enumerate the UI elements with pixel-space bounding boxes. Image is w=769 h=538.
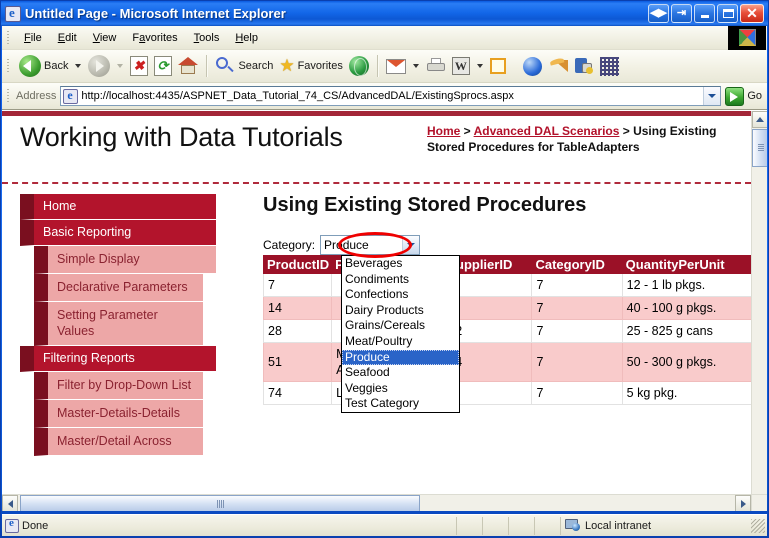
sidebar-item-master-details-details[interactable]: Master-Details-Details bbox=[34, 400, 203, 428]
status-pane-2 bbox=[483, 517, 509, 535]
sidebar-item-label: Simple Display bbox=[57, 252, 140, 266]
sidebar-item-home[interactable]: Home bbox=[20, 194, 216, 220]
research-button[interactable] bbox=[571, 53, 597, 79]
main-content: Using Existing Stored Procedures Categor… bbox=[245, 194, 751, 405]
discuss-button[interactable] bbox=[520, 53, 545, 79]
page-title: Using Existing Stored Procedures bbox=[263, 194, 751, 217]
address-gripper[interactable] bbox=[5, 88, 12, 104]
status-bar: Done Local intranet bbox=[2, 514, 767, 536]
stop-icon: ✖ bbox=[130, 56, 148, 76]
cell-categoryid: 7 bbox=[532, 297, 622, 320]
dropdown-option-confections[interactable]: Confections bbox=[342, 287, 459, 303]
title-bar: Untitled Page - Microsoft Internet Explo… bbox=[1, 1, 768, 26]
cell-quantityperunit: 5 kg pkg. bbox=[622, 382, 751, 405]
security-zone-pane[interactable]: Local intranet bbox=[561, 517, 751, 535]
sidebar-item-filtering-reports[interactable]: Filtering Reports bbox=[20, 346, 216, 372]
scrollbar-corner bbox=[751, 494, 767, 511]
edit-dropdown-icon[interactable] bbox=[477, 64, 483, 68]
address-dropdown-button[interactable] bbox=[703, 87, 720, 105]
refresh-icon: ⟳ bbox=[154, 56, 172, 76]
status-pane-1 bbox=[457, 517, 483, 535]
minimize-button[interactable] bbox=[694, 4, 715, 23]
sidebar-item-declarative-parameters[interactable]: Declarative Parameters bbox=[34, 274, 203, 302]
navigation-toolbar: Back ✖ ⟳ Search ★ Favorites bbox=[2, 50, 767, 83]
toolbar-gripper[interactable] bbox=[5, 58, 12, 74]
local-intranet-icon bbox=[565, 519, 581, 533]
cell-categoryid: 7 bbox=[532, 274, 622, 297]
research-icon bbox=[574, 57, 594, 75]
edit-word-icon: W bbox=[452, 57, 470, 75]
menu-favorites[interactable]: Favorites bbox=[124, 30, 185, 46]
restore-group-button[interactable]: ◀▶ bbox=[648, 4, 669, 23]
sidebar-item-label: Filter by Drop-Down List bbox=[57, 378, 191, 392]
dropdown-option-meat-poultry[interactable]: Meat/Poultry bbox=[342, 334, 459, 350]
dropdown-option-grains-cereals[interactable]: Grains/Cereals bbox=[342, 318, 459, 334]
print-icon bbox=[426, 58, 446, 74]
scroll-up-button[interactable] bbox=[752, 111, 767, 128]
encoding-button[interactable] bbox=[597, 53, 622, 79]
ie-page-icon bbox=[5, 6, 21, 22]
menu-file-label: ile bbox=[31, 32, 42, 44]
dropdown-option-test-category[interactable]: Test Category bbox=[342, 396, 459, 412]
status-pane-4 bbox=[535, 517, 561, 535]
messenger-button[interactable] bbox=[545, 53, 571, 79]
horizontal-scroll-thumb[interactable] bbox=[20, 495, 420, 511]
messenger-icon bbox=[548, 57, 568, 75]
page-horizontal-scrollbar[interactable] bbox=[2, 494, 751, 511]
stop-button[interactable]: ✖ bbox=[127, 53, 151, 79]
forward-button[interactable] bbox=[85, 53, 113, 79]
dropdown-option-condiments[interactable]: Condiments bbox=[342, 272, 459, 288]
cell-quantityperunit: 50 - 300 g pkgs. bbox=[622, 343, 751, 382]
sidebar-item-label: Basic Reporting bbox=[43, 225, 131, 239]
menu-view[interactable]: View bbox=[85, 30, 125, 46]
restore-window-button[interactable]: ⇥ bbox=[671, 4, 692, 23]
refresh-button[interactable]: ⟳ bbox=[151, 53, 175, 79]
mail-dropdown-icon[interactable] bbox=[413, 64, 419, 68]
edit-button[interactable]: W bbox=[449, 53, 473, 79]
status-message-pane: Done bbox=[2, 517, 457, 535]
sidebar-item-filter-by-drop-down-list[interactable]: Filter by Drop-Down List bbox=[34, 372, 203, 400]
cell-quantityperunit: 25 - 825 g cans bbox=[622, 320, 751, 343]
chevron-down-icon bbox=[708, 94, 716, 98]
notes-icon bbox=[490, 58, 506, 74]
print-button[interactable] bbox=[423, 53, 449, 79]
cell-productid: 7 bbox=[264, 274, 332, 297]
chevron-down-icon bbox=[407, 243, 415, 247]
column-header-categoryid[interactable]: CategoryID bbox=[532, 256, 622, 274]
menu-edit[interactable]: Edit bbox=[50, 30, 85, 46]
chevron-left-icon bbox=[8, 500, 13, 508]
table-row: 14 6 7 40 - 100 g pkgs. bbox=[264, 297, 752, 320]
search-icon bbox=[215, 56, 235, 76]
menu-tools[interactable]: Tools bbox=[186, 30, 228, 46]
toolbar-separator-2 bbox=[377, 55, 378, 77]
mail-button[interactable] bbox=[383, 53, 409, 79]
category-filter-row: Category: Produce Beverages Condiments C… bbox=[263, 235, 751, 255]
table-row: 51 Manjimup Dried Apples 24 7 50 - 300 g… bbox=[264, 343, 752, 382]
sidebar-item-label: Master/Detail Across bbox=[57, 434, 172, 448]
status-pane-3 bbox=[509, 517, 535, 535]
sidebar-navigation: Home Basic Reporting Simple Display Decl… bbox=[20, 194, 216, 456]
category-filter-label: Category: bbox=[263, 238, 315, 252]
notes-button[interactable] bbox=[487, 53, 509, 79]
sidebar-item-simple-display[interactable]: Simple Display bbox=[34, 246, 216, 274]
select-dropdown-button[interactable] bbox=[402, 236, 419, 254]
dropdown-option-beverages[interactable]: Beverages bbox=[342, 256, 459, 272]
table-row: 28 12 7 25 - 825 g cans bbox=[264, 320, 752, 343]
toolbar-separator bbox=[206, 55, 207, 77]
vertical-scroll-thumb[interactable] bbox=[752, 129, 767, 167]
table-header-row: ProductID ProductName SupplierID Categor… bbox=[264, 256, 752, 274]
home-button[interactable] bbox=[175, 53, 201, 79]
discuss-icon bbox=[523, 57, 542, 76]
sidebar-item-label: Home bbox=[43, 199, 76, 213]
window-title: Untitled Page - Microsoft Internet Explo… bbox=[25, 6, 648, 21]
address-bar: Address http://localhost:4435/ASPNET_Dat… bbox=[2, 83, 767, 110]
forward-dropdown-icon[interactable] bbox=[117, 64, 123, 68]
back-button[interactable]: Back bbox=[16, 53, 71, 79]
sidebar-item-label: Master-Details-Details bbox=[57, 406, 180, 420]
dropdown-option-dairy-products[interactable]: Dairy Products bbox=[342, 303, 459, 319]
sidebar-item-label: Declarative Parameters bbox=[57, 280, 188, 294]
breadcrumb: Home > Advanced DAL Scenarios > Using Ex… bbox=[427, 123, 727, 155]
web-page-content: Working with Data Tutorials Home > Advan… bbox=[2, 111, 751, 495]
page-vertical-scrollbar[interactable] bbox=[751, 111, 767, 511]
menu-help[interactable]: Help bbox=[227, 30, 266, 46]
sidebar-item-basic-reporting[interactable]: Basic Reporting bbox=[20, 220, 216, 246]
menu-bar: File Edit View Favorites Tools Help bbox=[2, 26, 767, 50]
address-input[interactable]: http://localhost:4435/ASPNET_Data_Tutori… bbox=[60, 86, 721, 106]
category-select-value: Produce bbox=[324, 238, 402, 252]
table-row: 74 Longlife Tofu 4 7 5 kg pkg. bbox=[264, 382, 752, 405]
home-icon bbox=[178, 57, 198, 75]
favorites-star-icon: ★ bbox=[279, 57, 294, 75]
menu-file[interactable]: File bbox=[16, 30, 50, 46]
history-icon bbox=[349, 56, 369, 76]
ie-browser-window: Untitled Page - Microsoft Internet Explo… bbox=[0, 0, 769, 538]
chevron-right-icon bbox=[741, 500, 746, 508]
security-zone-label: Local intranet bbox=[585, 520, 651, 532]
history-button[interactable] bbox=[346, 53, 372, 79]
products-grid: ProductID ProductName SupplierID Categor… bbox=[263, 255, 751, 405]
cell-categoryid: 7 bbox=[532, 382, 622, 405]
dropdown-option-seafood[interactable]: Seafood bbox=[342, 365, 459, 381]
maximize-button[interactable] bbox=[717, 4, 738, 23]
page-favicon bbox=[63, 89, 78, 104]
sidebar-item-label: Filtering Reports bbox=[43, 351, 135, 365]
cell-productid: 74 bbox=[264, 382, 332, 405]
page-viewport: Working with Data Tutorials Home > Advan… bbox=[2, 110, 767, 511]
back-icon bbox=[19, 55, 41, 77]
sidebar-item-label: Setting Parameter Values bbox=[57, 308, 158, 338]
go-arrow-icon bbox=[725, 87, 744, 106]
cell-quantityperunit: 12 - 1 lb pkgs. bbox=[622, 274, 751, 297]
status-text: Done bbox=[22, 520, 48, 532]
address-label: Address bbox=[16, 90, 56, 102]
scroll-left-button[interactable] bbox=[2, 495, 18, 511]
dropdown-option-produce[interactable]: Produce bbox=[342, 350, 459, 366]
cell-productid: 14 bbox=[264, 297, 332, 320]
windows-brand-logo bbox=[728, 26, 766, 50]
category-select[interactable]: Produce bbox=[320, 235, 420, 255]
column-header-productid[interactable]: ProductID bbox=[264, 256, 332, 274]
breadcrumb-section-link[interactable]: Advanced DAL Scenarios bbox=[474, 124, 620, 138]
dropdown-option-veggies[interactable]: Veggies bbox=[342, 381, 459, 397]
scroll-right-button[interactable] bbox=[735, 495, 751, 511]
site-header: Working with Data Tutorials Home > Advan… bbox=[2, 116, 751, 184]
menu-gripper[interactable] bbox=[5, 30, 12, 46]
column-header-quantityperunit[interactable]: QuantityPerUnit bbox=[622, 256, 751, 274]
sidebar-item-setting-parameter-values[interactable]: Setting Parameter Values bbox=[34, 302, 203, 346]
chevron-up-icon bbox=[756, 117, 764, 122]
close-button[interactable]: ✕ bbox=[740, 4, 764, 23]
cell-productid: 51 bbox=[264, 343, 332, 382]
breadcrumb-sep-1: > bbox=[460, 124, 473, 138]
back-dropdown-icon[interactable] bbox=[75, 64, 81, 68]
breadcrumb-sep-2: > bbox=[619, 124, 633, 138]
cell-productid: 28 bbox=[264, 320, 332, 343]
cell-categoryid: 7 bbox=[532, 320, 622, 343]
window-buttons: ◀▶ ⇥ ✕ bbox=[648, 4, 768, 23]
go-button[interactable]: Go bbox=[721, 85, 767, 107]
breadcrumb-home-link[interactable]: Home bbox=[427, 124, 460, 138]
status-page-icon bbox=[5, 519, 19, 533]
cell-categoryid: 7 bbox=[532, 343, 622, 382]
category-dropdown-list[interactable]: Beverages Condiments Confections Dairy P… bbox=[341, 255, 460, 413]
mail-icon bbox=[386, 59, 406, 74]
favorites-button-label: Favorites bbox=[298, 60, 343, 72]
site-title: Working with Data Tutorials bbox=[20, 122, 343, 153]
resize-grip[interactable] bbox=[751, 519, 765, 533]
cell-quantityperunit: 40 - 100 g pkgs. bbox=[622, 297, 751, 320]
go-button-label: Go bbox=[747, 90, 762, 102]
search-button-label: Search bbox=[238, 60, 273, 72]
favorites-button[interactable]: ★ Favorites bbox=[276, 53, 346, 79]
sidebar-item-master-detail-across[interactable]: Master/Detail Across bbox=[34, 428, 203, 456]
table-row: 7 3 7 12 - 1 lb pkgs. bbox=[264, 274, 752, 297]
address-url-text: http://localhost:4435/ASPNET_Data_Tutori… bbox=[81, 90, 703, 102]
search-button[interactable]: Search bbox=[212, 53, 276, 79]
encoding-icon bbox=[600, 57, 619, 76]
back-button-label: Back bbox=[44, 60, 68, 72]
forward-icon bbox=[88, 55, 110, 77]
